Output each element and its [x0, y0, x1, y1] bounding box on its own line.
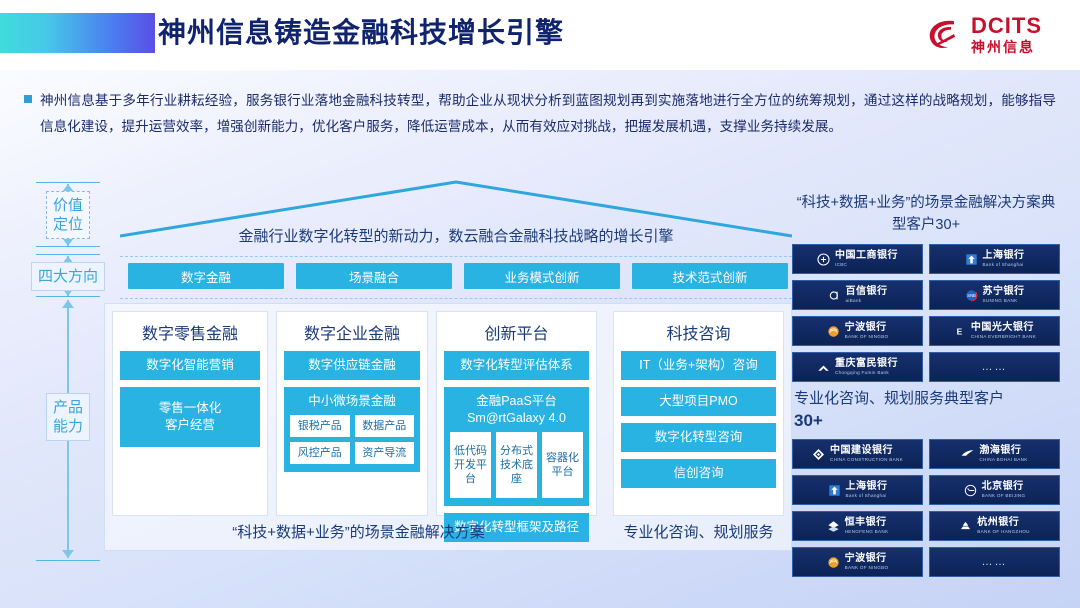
sub-tile-asset-routing[interactable]: 资产导流: [355, 442, 415, 464]
axis-label-value-positioning: 价值 定位: [46, 191, 90, 239]
scenario-solution-group: 数字零售金融 数字化智能营销 零售一体化 客户经营 数字企业金融 数字供应链金融…: [112, 311, 605, 550]
bank-name-cn: 渤海银行: [979, 446, 1027, 456]
bank-name-en: BANK OF NINGBO: [845, 335, 889, 340]
bank-name-cn: 宁波银行: [845, 554, 889, 564]
customer-heading-scenario: “科技+数据+业务”的场景金融解决方案典型客户30+: [792, 186, 1060, 244]
product-capability-area: 数字零售金融 数字化智能营销 零售一体化 客户经营 数字企业金融 数字供应链金融…: [104, 303, 792, 551]
bank-name-en: SUNING BANK: [983, 299, 1025, 304]
four-directions-row: 数字金融 场景融合 业务模式创新 技术范式创新: [128, 263, 788, 289]
bank-logo-bank-of-shanghai-bottom: 上海银行 Bank of Shanghai: [792, 475, 923, 505]
caption-scenario-solution: “科技+数据+业务”的场景金融解决方案: [112, 516, 605, 542]
sub-tile-grid: 低代码开发平台 分布式技术底座 容器化平台: [450, 432, 583, 498]
sub-tile-containerization-platform[interactable]: 容器化平台: [542, 432, 583, 498]
product-column-innovation-platform: 创新平台 数字化转型评估体系 金融PaaS平台 Sm@rtGalaxy 4.0 …: [436, 311, 597, 516]
everbright-bank-icon: E: [953, 325, 966, 338]
axis-label-product-capability: 产品 能力: [46, 393, 90, 441]
sub-tile-low-code-platform[interactable]: 低代码开发平台: [450, 432, 491, 498]
bank-name-block: 北京银行 BANK OF BEIJING: [982, 482, 1026, 499]
bank-logo-bohai-bank: 渤海银行 CHINA BOHAI BANK: [929, 439, 1060, 469]
bank-name-cn: 北京银行: [982, 482, 1026, 492]
bank-name-en: HENGFENG BANK: [845, 530, 889, 535]
bank-logo-aibank: 百信银行 aiBank: [792, 280, 923, 310]
group-title: 中小微场景金融: [290, 393, 414, 410]
bullet-square-icon: [24, 95, 32, 103]
bank-name-block: 宁波银行 BANK OF NINGBO: [845, 323, 889, 340]
bank-name-block: 中国工商银行 ICBC: [835, 251, 898, 268]
direction-pill-business-model-innovation[interactable]: 业务模式创新: [464, 263, 620, 289]
intro-paragraph: 神州信息基于多年行业耕耘经验，服务银行业落地金融科技转型，帮助企业从现状分析到蓝…: [24, 80, 1066, 148]
bank-name-block: 宁波银行 BANK OF NINGBO: [845, 554, 889, 571]
company-logo: DCITS 神州信息: [924, 14, 1042, 54]
bohai-bank-icon: [961, 448, 974, 461]
fumin-bank-icon: [817, 361, 830, 374]
bank-logo-grid-scenario: 中国工商银行 ICBC 上海银行 Bank of Shanghai: [792, 244, 1060, 382]
logo-cn-label: 神州信息: [971, 40, 1042, 54]
bank-name-cn: 重庆富民银行: [835, 359, 898, 369]
slide-header: 神州信息铸造金融科技增长引擎 DCITS 神州信息: [0, 0, 1080, 70]
bank-name-block: 重庆富民银行 Chongqing Fumin Bank: [835, 359, 898, 376]
sub-tile-risk-control-product[interactable]: 风控产品: [290, 442, 350, 464]
icbc-icon: [817, 253, 830, 266]
bank-logo-grid-consulting: 中国建设银行 CHINA CONSTRUCTION BANK 渤海银行 CHIN…: [792, 439, 1060, 577]
caption-consulting-service: 专业化咨询、规划服务: [613, 516, 784, 542]
bank-logo-hangzhou-bank: 杭州银行 BANK OF HANGZHOU: [929, 511, 1060, 541]
product-tile-it-business-architecture-consulting[interactable]: IT（业务+架构）咨询: [621, 351, 776, 380]
product-column-digital-enterprise-finance: 数字企业金融 数字供应链金融 中小微场景金融 银税产品 数据产品 风控产品 资产…: [276, 311, 428, 516]
hangzhou-bank-icon: [959, 520, 972, 533]
product-column-tech-consulting: 科技咨询 IT（业务+架构）咨询 大型项目PMO 数字化转型咨询 信创咨询: [613, 311, 784, 516]
column-title: 科技咨询: [621, 320, 776, 344]
product-column-digital-retail-finance: 数字零售金融 数字化智能营销 零售一体化 客户经营: [112, 311, 268, 516]
bank-name-cn: 宁波银行: [845, 323, 889, 333]
bank-name-block: 中国建设银行 CHINA CONSTRUCTION BANK: [830, 446, 903, 463]
direction-pill-scenario-fusion[interactable]: 场景融合: [296, 263, 452, 289]
sub-tile-distributed-tech-base[interactable]: 分布式技术底座: [496, 432, 537, 498]
bank-name-en: Chongqing Fumin Bank: [835, 371, 898, 376]
product-tile-digital-transformation-assessment[interactable]: 数字化转型评估体系: [444, 351, 589, 380]
suning-bank-icon: SNB: [965, 289, 978, 302]
bank-name-cn: 杭州银行: [977, 518, 1030, 528]
bank-name-en: CHINA CONSTRUCTION BANK: [830, 458, 903, 463]
customer-heading-consulting-text: 专业化咨询、规划服务典型客户: [794, 390, 1004, 407]
ningbo-bank-icon: [827, 325, 840, 338]
bank-logo-bank-of-ningbo-bottom: 宁波银行 BANK OF NINGBO: [792, 547, 923, 577]
svg-text:E: E: [957, 326, 963, 336]
left-axis: 价值 定位 四大方向 产品 能力: [28, 182, 108, 562]
bank-logo-more-consulting: ……: [929, 547, 1060, 577]
bank-name-en: BANK OF HANGZHOU: [977, 530, 1030, 535]
directions-divider: [120, 298, 792, 299]
bank-logo-fumin-bank: 重庆富民银行 Chongqing Fumin Bank: [792, 352, 923, 382]
bank-name-cn: 中国工商银行: [835, 251, 898, 261]
bank-name-cn: 百信银行: [846, 287, 888, 297]
sub-tile-data-product[interactable]: 数据产品: [355, 415, 415, 437]
sub-tile-grid: 银税产品 数据产品 风控产品 资产导流: [290, 415, 414, 464]
slide-root: 神州信息铸造金融科技增长引擎 DCITS 神州信息 神州信息基于多年行业耕耘经验…: [0, 0, 1080, 608]
product-tile-xinchuang-consulting[interactable]: 信创咨询: [621, 459, 776, 488]
shanghai-bank-icon: [828, 484, 841, 497]
group-title: 金融PaaS平台 Sm@rtGalaxy 4.0: [450, 393, 583, 427]
consulting-service-group: 科技咨询 IT（业务+架构）咨询 大型项目PMO 数字化转型咨询 信创咨询 专业…: [613, 311, 784, 550]
product-group-financial-paas-platform[interactable]: 金融PaaS平台 Sm@rtGalaxy 4.0 低代码开发平台 分布式技术底座…: [444, 387, 589, 506]
bank-name-cn: 中国光大银行: [971, 323, 1036, 333]
product-group-sme-scenario-finance[interactable]: 中小微场景金融 银税产品 数据产品 风控产品 资产导流: [284, 387, 420, 472]
customer-panel: “科技+数据+业务”的场景金融解决方案典型客户30+ 中国工商银行 ICBC: [792, 186, 1060, 551]
ccb-icon: [812, 448, 825, 461]
aibank-icon: [828, 289, 841, 302]
bank-name-block: 杭州银行 BANK OF HANGZHOU: [977, 518, 1030, 535]
bank-logo-beijing-bank: 北京银行 BANK OF BEIJING: [929, 475, 1060, 505]
value-banner: 金融行业数字化转型的新动力，数云融合金融科技战略的增长引擎: [120, 214, 792, 257]
column-title: 数字零售金融: [120, 320, 260, 344]
direction-pill-digital-finance[interactable]: 数字金融: [128, 263, 284, 289]
bank-name-en: Bank of Shanghai: [983, 263, 1025, 268]
bank-name-block: 苏宁银行 SUNING BANK: [983, 287, 1025, 304]
intro-text: 神州信息基于多年行业耕耘经验，服务银行业落地金融科技转型，帮助企业从现状分析到蓝…: [40, 88, 1056, 140]
column-title: 创新平台: [444, 320, 589, 344]
hengfeng-bank-icon: [827, 520, 840, 533]
ellipsis-icon: ……: [982, 556, 1008, 568]
product-tile-retail-integrated-customer-operation[interactable]: 零售一体化 客户经营: [120, 387, 260, 447]
bank-logo-hengfeng-bank: 恒丰银行 HENGFENG BANK: [792, 511, 923, 541]
beijing-bank-icon: [964, 484, 977, 497]
page-title: 神州信息铸造金融科技增长引擎: [158, 13, 564, 53]
product-tile-digital-smart-marketing[interactable]: 数字化智能营销: [120, 351, 260, 380]
bank-name-cn: 中国建设银行: [830, 446, 903, 456]
bank-name-en: Bank of Shanghai: [846, 494, 888, 499]
logo-en-label: DCITS: [971, 15, 1042, 37]
shanghai-bank-icon: [965, 253, 978, 266]
bank-name-block: 上海银行 Bank of Shanghai: [846, 482, 888, 499]
customer-heading-consulting-count: 30+: [794, 411, 823, 430]
header-accent-bar: [0, 13, 155, 53]
bank-name-cn: 上海银行: [983, 251, 1025, 261]
customer-heading-consulting: 专业化咨询、规划服务典型客户 30+: [792, 382, 1060, 439]
axis-label-four-directions: 四大方向: [31, 262, 105, 291]
bank-name-en: BANK OF BEIJING: [982, 494, 1026, 499]
bank-name-cn: 苏宁银行: [983, 287, 1025, 297]
svg-text:SNB: SNB: [967, 293, 976, 298]
bank-name-cn: 上海银行: [846, 482, 888, 492]
bank-name-block: 百信银行 aiBank: [846, 287, 888, 304]
bank-logo-bank-of-shanghai-top: 上海银行 Bank of Shanghai: [929, 244, 1060, 274]
product-tile-large-project-pmo[interactable]: 大型项目PMO: [621, 387, 776, 416]
ellipsis-icon: ……: [982, 361, 1008, 373]
sub-tile-tax-bank-product[interactable]: 银税产品: [290, 415, 350, 437]
dcits-swirl-icon: [924, 14, 964, 54]
bank-logo-suning-bank: SNB 苏宁银行 SUNING BANK: [929, 280, 1060, 310]
bank-name-block: 恒丰银行 HENGFENG BANK: [845, 518, 889, 535]
bank-logo-more-scenario: ……: [929, 352, 1060, 382]
logo-text-block: DCITS 神州信息: [971, 15, 1042, 54]
ningbo-bank-icon: [827, 556, 840, 569]
bank-name-en: CHINA EVERBRIGHT BANK: [971, 335, 1036, 340]
bank-name-block: 中国光大银行 CHINA EVERBRIGHT BANK: [971, 323, 1036, 340]
bank-logo-ccb: 中国建设银行 CHINA CONSTRUCTION BANK: [792, 439, 923, 469]
direction-pill-tech-paradigm-innovation[interactable]: 技术范式创新: [632, 263, 788, 289]
bank-name-en: CHINA BOHAI BANK: [979, 458, 1027, 463]
bank-logo-everbright-bank: E 中国光大银行 CHINA EVERBRIGHT BANK: [929, 316, 1060, 346]
bank-logo-icbc: 中国工商银行 ICBC: [792, 244, 923, 274]
product-tile-digital-supply-chain-finance[interactable]: 数字供应链金融: [284, 351, 420, 380]
product-tile-digital-transformation-consulting[interactable]: 数字化转型咨询: [621, 423, 776, 452]
bank-name-cn: 恒丰银行: [845, 518, 889, 528]
bank-name-en: BANK OF NINGBO: [845, 566, 889, 571]
bank-name-block: 上海银行 Bank of Shanghai: [983, 251, 1025, 268]
bank-name-en: ICBC: [835, 263, 898, 268]
bank-logo-bank-of-ningbo-top: 宁波银行 BANK OF NINGBO: [792, 316, 923, 346]
value-banner-text: 金融行业数字化转型的新动力，数云融合金融科技战略的增长引擎: [238, 225, 673, 246]
bank-name-en: aiBank: [846, 299, 888, 304]
bank-name-block: 渤海银行 CHINA BOHAI BANK: [979, 446, 1027, 463]
column-title: 数字企业金融: [284, 320, 420, 344]
